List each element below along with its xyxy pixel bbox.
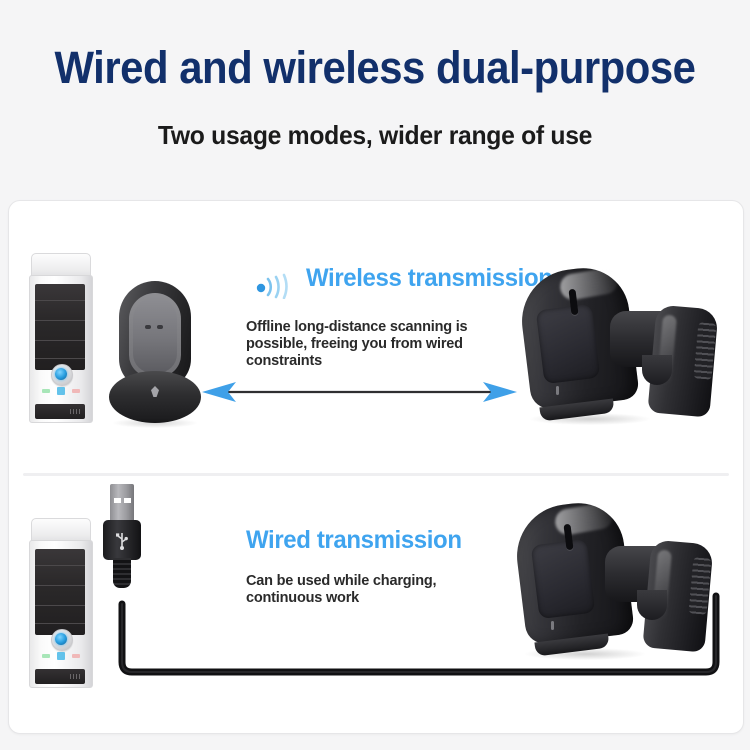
pc-led-red-icon [72,654,80,658]
header: Wired and wireless dual-purpose Two usag… [0,0,750,185]
pc-drive-bay [35,300,85,301]
pc-usb-port-icon [57,652,65,660]
pc-drive-bay [35,358,85,359]
barcode-scanner-wireless [514,263,729,423]
pc-tower-wired [29,518,91,686]
scanner-led-icon [556,386,559,395]
pc-front-panel [35,549,85,635]
pc-usb-port-icon [57,387,65,395]
usb-trident-icon [116,530,128,550]
scanner-led-icon [551,621,554,630]
scanner-window [531,539,596,619]
pc-chassis [29,540,93,688]
pc-drive-bay [35,623,85,624]
pc-drive-bay [35,565,85,566]
pc-led-green-icon [42,389,50,393]
wireless-body-text: Offline long-distance scanning is possib… [246,319,536,370]
usb-metal-tip [110,484,134,524]
pc-power-button-icon[interactable] [55,368,67,380]
pc-chassis [29,275,93,423]
pc-drive-bay [35,605,85,606]
pc-drive-bay [35,585,85,586]
page-title: Wired and wireless dual-purpose [26,44,724,92]
panel-wired: Wired transmission Can be used while cha… [9,476,743,733]
scanner-window [536,304,601,384]
wired-heading: Wired transmission [246,526,462,555]
content-card: Wireless transmission Offline long-dista… [8,200,744,734]
pc-tower-wireless [29,253,91,421]
usb-strain-relief [113,558,131,588]
scanner-shadow [530,413,650,425]
cradle-shadow [113,418,197,428]
pc-front-panel [35,284,85,370]
infographic-page: Wired and wireless dual-purpose Two usag… [0,0,750,750]
pc-vent-icon [70,409,81,414]
wired-body-text: Can be used while charging, continuous w… [246,573,536,607]
pc-led-red-icon [72,389,80,393]
usb-contact-icon [114,498,121,503]
pc-power-button-icon[interactable] [55,633,67,645]
cradle-contact-icon [157,325,163,329]
barcode-scanner-wired [509,498,724,658]
pc-led-green-icon [42,654,50,658]
pc-drive-bay [35,340,85,341]
panel-wireless: Wireless transmission Offline long-dista… [9,201,743,473]
wifi-signal-icon [253,261,299,299]
charging-cradle [109,281,201,423]
cradle-well [133,297,177,373]
pc-drive-bay [35,320,85,321]
pc-vent-icon [70,674,81,679]
cradle-contact-icon [145,325,151,329]
scanner-shadow [525,648,645,660]
usb-contact-icon [124,498,131,503]
scanner-trigger[interactable] [642,355,672,385]
usb-plug [101,484,143,604]
cradle-base [109,371,201,423]
page-subtitle: Two usage modes, wider range of use [19,120,732,150]
scanner-trigger[interactable] [637,590,667,620]
double-headed-arrow-icon [202,379,517,405]
